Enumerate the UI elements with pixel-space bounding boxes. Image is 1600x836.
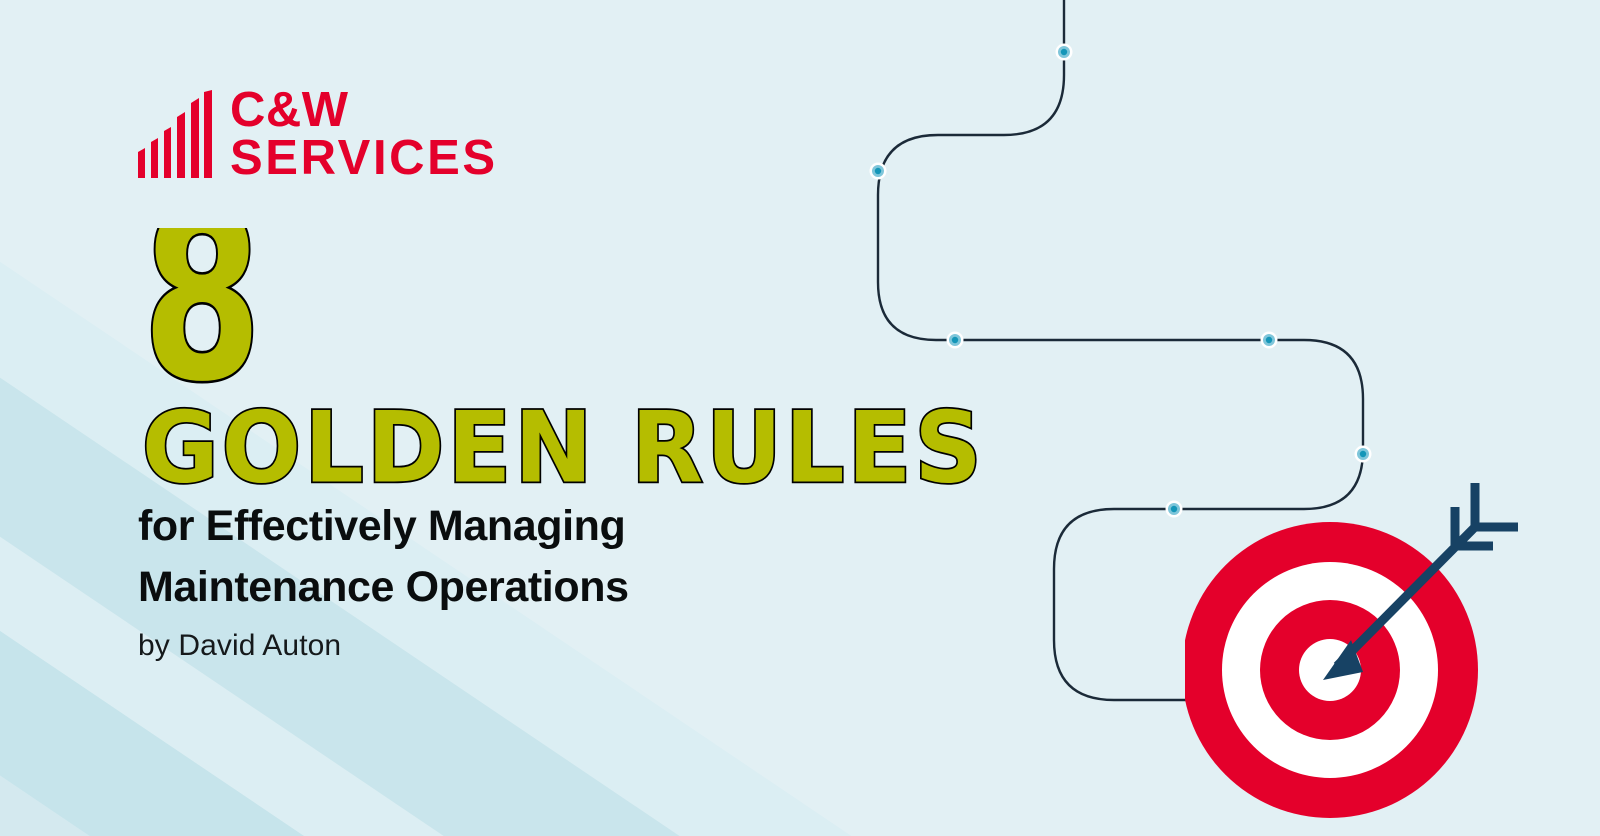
target-ring-red-2	[1260, 600, 1400, 740]
hero-subtitle: for Effectively Managing Maintenance Ope…	[138, 496, 958, 618]
hero-headline-text: GOLDEN RULES	[142, 397, 985, 502]
hero-byline: by David Auton	[138, 629, 341, 663]
wordmark-line2: SERVICES	[230, 131, 498, 178]
arrow-head	[1323, 640, 1363, 680]
cw-services-logo: C&W SERVICES	[138, 86, 508, 178]
poster-canvas: C&W SERVICES 8 GOLDEN RULES for Effectiv…	[0, 0, 1600, 836]
hero-headline-golden-rules: GOLDEN RULES	[138, 397, 1038, 502]
target-bullseye-center	[1299, 639, 1361, 701]
target-ring-outer	[1185, 522, 1478, 818]
arrow-hitting-bullseye	[1337, 483, 1518, 666]
cw-services-wordmark: C&W SERVICES	[230, 86, 508, 178]
hero-headline-block: 8 GOLDEN RULES	[138, 228, 1098, 502]
cw-services-bars-mark	[138, 90, 212, 178]
target-ring-white-1	[1222, 562, 1438, 778]
wordmark-line1: C&W	[230, 86, 349, 137]
hero-number-8: 8	[138, 228, 318, 403]
bullseye-target	[1185, 470, 1600, 836]
hero-number-text: 8	[142, 228, 262, 403]
